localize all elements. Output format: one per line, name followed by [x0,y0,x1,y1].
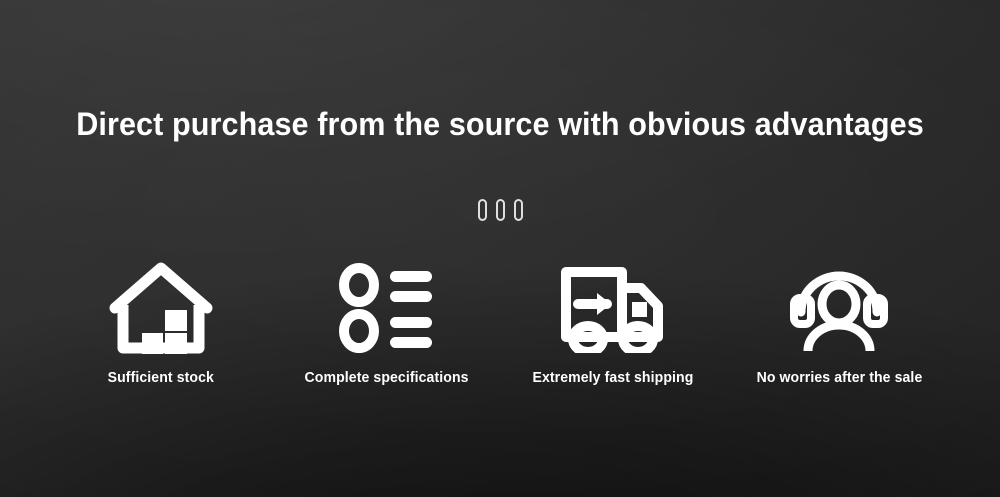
headset-support-icon [789,258,889,358]
feature-item-extremely-fast-shipping: Extremely fast shipping [524,258,702,386]
feature-item-sufficient-stock: Sufficient stock [72,258,250,386]
feature-label: Sufficient stock [108,370,214,386]
promo-banner: Direct purchase from the source with obv… [0,0,1000,497]
page-title: Direct purchase from the source with obv… [23,103,978,145]
delivery-truck-icon [559,258,667,358]
feature-list: Sufficient stock Complete specifications [0,258,1000,386]
feature-item-complete-specifications: Complete specifications [298,258,476,386]
feature-label: No worries after the sale [756,370,922,386]
divider-pip-icon [496,199,505,221]
feature-item-no-worries-after-sale: No worries after the sale [750,258,928,386]
feature-label: Extremely fast shipping [533,370,694,386]
divider-pip-icon [514,199,523,221]
divider-pip-icon [478,199,487,221]
warehouse-stock-icon [109,258,213,358]
three-pip-divider [0,199,1000,221]
feature-label: Complete specifications [305,370,469,386]
specification-list-icon [338,258,436,358]
